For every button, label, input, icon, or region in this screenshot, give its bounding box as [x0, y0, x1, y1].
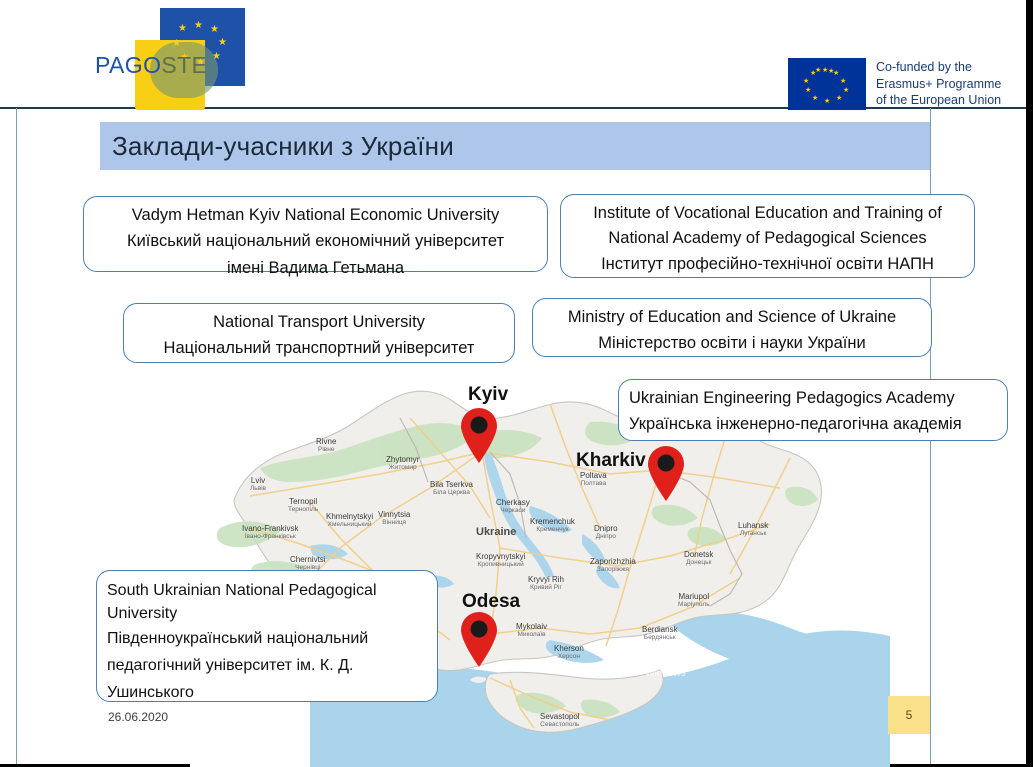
- map-city-name-en: Kherson: [554, 644, 584, 653]
- map-city-label: Sevastopol Севастополь: [540, 712, 580, 729]
- map-city-label: Rivne Рівне: [316, 437, 336, 454]
- map-city-name-en: Lviv: [250, 476, 266, 485]
- map-marker-kyiv[interactable]: [458, 406, 500, 464]
- map-city-name-en: Chernivtsi: [290, 555, 326, 564]
- map-city-name-en: Poltava: [580, 471, 607, 480]
- map-city-name-en: Berdiansk: [642, 625, 678, 634]
- callout-title-en-line1: South Ukrainian National Pedagogical: [107, 579, 427, 602]
- map-city-label: Luhansk Луганськ: [738, 521, 768, 538]
- map-city-label: Berdiansk Бердянськ: [642, 625, 678, 642]
- map-city-name-local: Тернопіль: [288, 506, 318, 514]
- callout-title-en-line1: Institute of Vocational Education and Tr…: [571, 201, 964, 226]
- callout-ministry-of-education-and-science-of-ukraine[interactable]: Ministry of Education and Science of Ukr…: [532, 298, 932, 357]
- map-city-name-en: Dnipro: [594, 524, 618, 533]
- map-city-name-en: Sevastopol: [540, 712, 580, 721]
- map-city-label: Cherkasy Черкаси: [496, 498, 530, 515]
- map-marker-label-kyiv: Kyiv: [468, 384, 508, 406]
- map-city-name-local: Бердянськ: [642, 634, 678, 642]
- callout-title-en: National Transport University: [134, 310, 504, 335]
- callout-title-en: Vadym Hetman Kyiv National Economic Univ…: [94, 203, 537, 228]
- map-city-name-local: Рівне: [316, 446, 336, 454]
- callout-title-en-line2: National Academy of Pedagogical Sciences: [571, 226, 964, 251]
- map-city-name-local: Вінниця: [378, 519, 410, 527]
- map-city-name-local: Луганськ: [738, 530, 768, 538]
- map-city-name-local: Кривий Ріг: [528, 584, 564, 592]
- map-city-name-en: Zaporizhzhia: [590, 557, 636, 566]
- callout-south-ukrainian-national-pedagogical-university[interactable]: South Ukrainian National Pedagogical Uni…: [96, 570, 438, 702]
- map-city-label: Poltava Полтава: [580, 471, 607, 488]
- pagoste-wordmark-suffix: STE: [161, 52, 207, 78]
- callout-title-ua: Національний транспортний університет: [134, 335, 504, 362]
- map-marker-kharkiv[interactable]: [645, 444, 687, 502]
- map-city-label: Kremenchuk Кременчук: [530, 517, 575, 534]
- map-city-label: Mykolaiv Миколаїв: [516, 622, 547, 639]
- callout-title-en: Ministry of Education and Science of Ukr…: [543, 305, 921, 330]
- map-city-label: Lviv Львів: [250, 476, 266, 493]
- map-city-name-en: Vinnytsia: [378, 510, 410, 519]
- map-city-name-local: Біла Церква: [430, 489, 473, 497]
- callout-title-en-line2: University: [107, 602, 427, 625]
- map-city-name-local: Херсон: [554, 653, 584, 661]
- callout-title-en: Ukrainian Engineering Pedagogics Academy: [629, 386, 997, 411]
- map-city-name-en: Kropyvnytskyi: [476, 552, 525, 561]
- map-city-name-local: Івано-Франківськ: [242, 533, 298, 541]
- map-city-name-en: Kremenchuk: [530, 517, 575, 526]
- map-city-name-local: Миколаїв: [516, 631, 547, 639]
- eu-flag-icon: ★ ★ ★ ★ ★ ★ ★ ★ ★ ★ ★ ★: [788, 58, 866, 110]
- callout-title-ua-line3: Ушинського: [107, 679, 427, 706]
- map-city-name-local: Кременчук: [530, 526, 575, 534]
- map-city-label: Zaporizhzhia Запоріжжя: [590, 557, 636, 574]
- map-city-name-local: Кропивницький: [476, 561, 525, 569]
- map-city-name-local: Маріуполь: [678, 601, 710, 609]
- callout-title-ua-line1: Київський національний економічний уніве…: [94, 228, 537, 255]
- map-city-name-local: Житомир: [386, 464, 419, 472]
- callout-ukrainian-engineering-pedagogics-academy[interactable]: Ukrainian Engineering Pedagogics Academy…: [618, 379, 1008, 441]
- map-city-label: Kropyvnytskyi Кропивницький: [476, 552, 525, 569]
- map-city-label: Donetsk Донецьк: [684, 550, 713, 567]
- map-city-name-en: Donetsk: [684, 550, 713, 559]
- map-city-name-en: Mykolaiv: [516, 622, 547, 631]
- map-city-label: Kherson Херсон: [554, 644, 584, 661]
- windows-watermark-line2: Windows: [645, 668, 710, 679]
- slide-right-edge: [1026, 0, 1033, 767]
- map-city-name-en: Khmelnytskyi: [326, 512, 373, 521]
- map-city-name-en: Ivano-Frankivsk: [242, 524, 298, 533]
- callout-institute-of-vocational-education-and-training[interactable]: Institute of Vocational Education and Tr…: [560, 194, 975, 278]
- map-city-name-local: Запоріжжя: [590, 566, 636, 574]
- page-title: Заклади-учасники з України: [112, 131, 454, 162]
- map-city-label: Bila Tserkva Біла Церква: [430, 480, 473, 497]
- map-city-label: Zhytomyr Житомир: [386, 455, 419, 472]
- map-marker-label-odesa: Odesa: [462, 591, 520, 613]
- map-marker-odesa[interactable]: [458, 610, 500, 668]
- map-city-name-en: Rivne: [316, 437, 336, 446]
- map-city-name-en: Cherkasy: [496, 498, 530, 507]
- pagoste-wordmark: PAGOSTE: [95, 52, 207, 79]
- map-city-label: Khmelnytskyi Хмельницький: [326, 512, 373, 529]
- erasmus-caption-line2: Erasmus+ Programme: [876, 76, 1001, 93]
- map-country-label: Ukraine: [476, 526, 516, 538]
- map-city-name-local: Львів: [250, 485, 266, 493]
- callout-title-ua-line2: імені Вадима Гетьмана: [94, 255, 537, 282]
- map-city-name-en: Mariupol: [678, 592, 710, 601]
- map-city-label: Kryvyi Rih Кривий Ріг: [528, 575, 564, 592]
- callout-title-ua-line1: Південноукраїнський національний: [107, 625, 427, 652]
- map-city-name-local: Донецьк: [684, 559, 713, 567]
- map-city-label: Dnipro Дніпро: [594, 524, 618, 541]
- map-city-label: Vinnytsia Вінниця: [378, 510, 410, 527]
- windows-watermark: Windows Windows: [645, 650, 710, 679]
- slide-canvas: ★ ★ ★ ★ ★ ★ ★ ★ PAGOSTE ★ ★ ★ ★ ★ ★ ★ ★ …: [0, 0, 1033, 767]
- callout-title-ua: Міністерство освіти і науки України: [543, 330, 921, 357]
- pagoste-wordmark-prefix: PAGO: [95, 52, 161, 78]
- map-city-label: Mariupol Маріуполь: [678, 592, 710, 609]
- pagoste-logo: ★ ★ ★ ★ ★ ★ ★ ★ PAGOSTE: [95, 6, 255, 106]
- erasmus-caption-line3: of the European Union: [876, 92, 1001, 109]
- callout-title-ua-line2: педагогічний університет ім. К. Д.: [107, 652, 427, 679]
- map-city-name-en: Bila Tserkva: [430, 480, 473, 489]
- callout-national-transport-university[interactable]: National Transport University Національн…: [123, 303, 515, 363]
- erasmus-logo: ★ ★ ★ ★ ★ ★ ★ ★ ★ ★ ★ ★ Co-funded by the…: [788, 58, 1028, 108]
- erasmus-caption: Co-funded by the Erasmus+ Programme of t…: [876, 59, 1001, 109]
- map-city-name-en: Ternopil: [288, 497, 318, 506]
- map-city-name-local: Полтава: [580, 480, 607, 488]
- map-city-name-en: Zhytomyr: [386, 455, 419, 464]
- left-guide-line: [16, 108, 17, 767]
- callout-title-ua: Інститут професійно-технічної освіти НАП…: [571, 251, 964, 278]
- callout-vadym-hetman-kyiv-national-economic-university[interactable]: Vadym Hetman Kyiv National Economic Univ…: [83, 196, 548, 272]
- erasmus-caption-line1: Co-funded by the: [876, 59, 1001, 76]
- slide-title-band: Заклади-учасники з України: [100, 122, 930, 170]
- slide-page-number: 5: [888, 696, 930, 734]
- map-city-name-local: Дніпро: [594, 533, 618, 541]
- windows-watermark-line1: Windows: [645, 650, 710, 667]
- map-city-name-local: Черкаси: [496, 507, 530, 515]
- map-marker-label-kharkiv: Kharkiv: [576, 450, 646, 472]
- map-city-label: Ternopil Тернопіль: [288, 497, 318, 514]
- slide-date: 26.06.2020: [108, 710, 168, 724]
- map-city-name-en: Luhansk: [738, 521, 768, 530]
- map-city-name-local: Хмельницький: [326, 521, 373, 529]
- map-city-name-en: Kryvyi Rih: [528, 575, 564, 584]
- callout-title-ua: Українська інженерно-педагогічна академі…: [629, 411, 997, 438]
- map-city-label: Ivano-Frankivsk Івано-Франківськ: [242, 524, 298, 541]
- map-city-name-local: Севастополь: [540, 721, 580, 729]
